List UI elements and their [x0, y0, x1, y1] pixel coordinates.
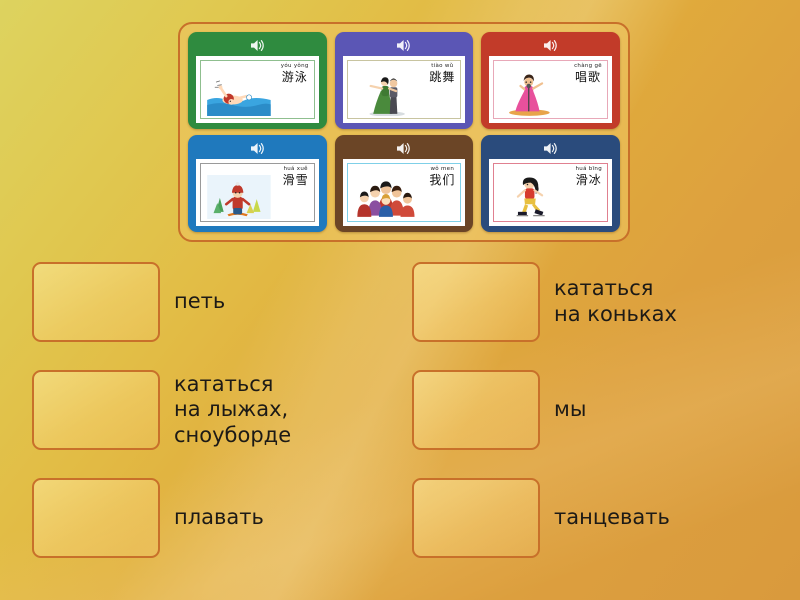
- ice-skater-illustration: [497, 175, 567, 219]
- dropzone-answer-skate[interactable]: [412, 262, 540, 342]
- answer-swim-label: плавать: [174, 505, 264, 531]
- answers-left-column: петькататься на лыжах, сноубордеплавать: [32, 252, 422, 576]
- card-tray: yóu yǒng游泳 tiào wǔ跳舞: [178, 22, 630, 242]
- dropzone-answer-dance[interactable]: [412, 478, 540, 558]
- hanzi-text: 滑冰: [576, 174, 603, 186]
- answer-skate-label: кататься на коньках: [554, 276, 677, 327]
- answer-ski-label: кататься на лыжах, сноуборде: [174, 372, 291, 449]
- pinyin-text: huá xuě: [283, 167, 309, 173]
- singer-illustration: [497, 72, 567, 116]
- card-dancing[interactable]: tiào wǔ跳舞: [335, 32, 474, 129]
- card-picture: chàng gē唱歌: [489, 56, 612, 123]
- card-label: chàng gē唱歌: [574, 64, 602, 83]
- answer-row: мы: [412, 360, 800, 460]
- hanzi-text: 唱歌: [574, 71, 602, 83]
- speaker-icon[interactable]: [250, 36, 265, 54]
- answers-right-column: кататься на конькахмытанцевать: [412, 252, 800, 576]
- answer-row: танцевать: [412, 468, 800, 568]
- hanzi-text: 游泳: [281, 71, 309, 83]
- picture-frame: huá xuě滑雪: [200, 163, 315, 222]
- card-ice-skating[interactable]: huá bīng滑冰: [481, 135, 620, 232]
- speaker-icon[interactable]: [396, 139, 411, 157]
- picture-frame: wǒ men我们: [347, 163, 462, 222]
- pinyin-text: chàng gē: [574, 64, 602, 70]
- speaker-icon[interactable]: [543, 36, 558, 54]
- dropzone-answer-ski[interactable]: [32, 370, 160, 450]
- card-label: huá xuě滑雪: [283, 167, 309, 186]
- hanzi-text: 我们: [429, 174, 455, 186]
- picture-frame: huá bīng滑冰: [493, 163, 608, 222]
- skier-illustration: [204, 175, 274, 219]
- answer-sing-label: петь: [174, 289, 225, 315]
- speaker-icon[interactable]: [396, 36, 411, 54]
- pinyin-text: yóu yǒng: [281, 64, 309, 70]
- answers-area: петькататься на лыжах, сноубордеплавать …: [0, 252, 800, 572]
- dropzone-answer-swim[interactable]: [32, 478, 160, 558]
- card-label: tiào wǔ跳舞: [429, 64, 455, 83]
- pinyin-text: tiào wǔ: [429, 64, 455, 70]
- card-we[interactable]: wǒ men我们: [335, 135, 474, 232]
- group-of-people-illustration: [351, 175, 421, 219]
- dropzone-answer-we[interactable]: [412, 370, 540, 450]
- card-skiing[interactable]: huá xuě滑雪: [188, 135, 327, 232]
- card-picture: yóu yǒng游泳: [196, 56, 319, 123]
- card-label: yóu yǒng游泳: [281, 64, 309, 83]
- swimmer-illustration: [204, 72, 274, 116]
- answer-row: петь: [32, 252, 422, 352]
- card-picture: tiào wǔ跳舞: [343, 56, 466, 123]
- speaker-icon[interactable]: [543, 139, 558, 157]
- answer-row: плавать: [32, 468, 422, 568]
- picture-frame: yóu yǒng游泳: [200, 60, 315, 119]
- pinyin-text: wǒ men: [429, 167, 455, 173]
- answer-row: кататься на коньках: [412, 252, 800, 352]
- card-picture: wǒ men我们: [343, 159, 466, 226]
- hanzi-text: 滑雪: [283, 174, 309, 186]
- speaker-icon[interactable]: [250, 139, 265, 157]
- card-picture: huá bīng滑冰: [489, 159, 612, 226]
- pinyin-text: huá bīng: [576, 167, 603, 173]
- picture-frame: tiào wǔ跳舞: [347, 60, 462, 119]
- card-picture: huá xuě滑雪: [196, 159, 319, 226]
- card-singing[interactable]: chàng gē唱歌: [481, 32, 620, 129]
- dancing-couple-illustration: [351, 72, 421, 116]
- card-label: huá bīng滑冰: [576, 167, 603, 186]
- picture-frame: chàng gē唱歌: [493, 60, 608, 119]
- card-swimming[interactable]: yóu yǒng游泳: [188, 32, 327, 129]
- answer-we-label: мы: [554, 397, 586, 423]
- dropzone-answer-sing[interactable]: [32, 262, 160, 342]
- card-label: wǒ men我们: [429, 167, 455, 186]
- hanzi-text: 跳舞: [429, 71, 455, 83]
- answer-row: кататься на лыжах, сноуборде: [32, 360, 422, 460]
- answer-dance-label: танцевать: [554, 505, 670, 531]
